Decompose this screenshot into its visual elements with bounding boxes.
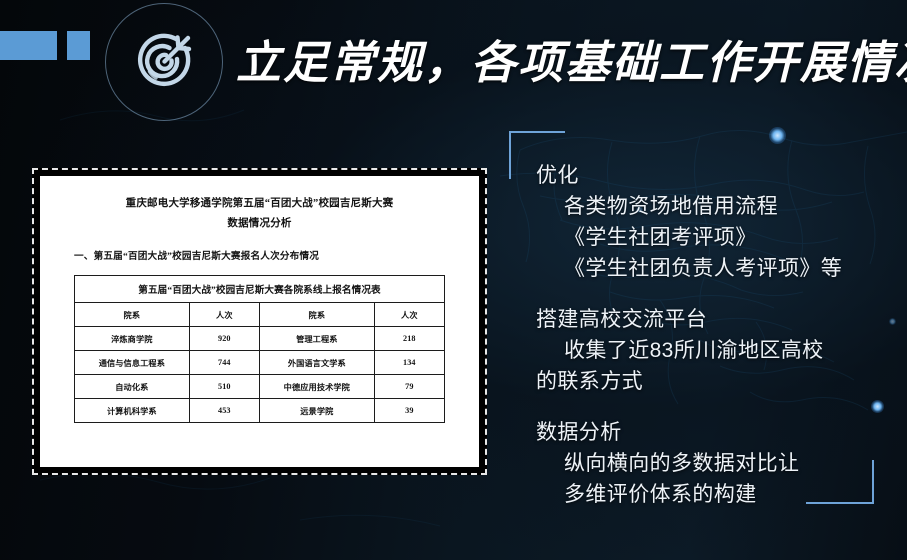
presentation-slide: 立足常规，各项基础工作开展情况 重庆邮电大学移通学院第五届“百团大战”校园吉尼斯… xyxy=(0,0,907,560)
table-cell: 淬炼商学院 xyxy=(75,327,190,351)
table-row: 通信与信息工程系 744 外国语言文学系 134 xyxy=(75,351,445,375)
document-image-frame: 重庆邮电大学移通学院第五届“百团大战”校园吉尼斯大赛 数据情况分析 一、第五届“… xyxy=(32,168,487,475)
table-cell: 453 xyxy=(189,399,259,423)
content-line: 纵向横向的多数据对比让 xyxy=(536,448,896,479)
table-row: 淬炼商学院 920 管理工程系 218 xyxy=(75,327,445,351)
content-line: 多维评价体系的构建 xyxy=(536,479,896,510)
document-title-line-2: 数据情况分析 xyxy=(74,214,445,234)
table-header-cell: 人次 xyxy=(374,303,444,327)
page-title: 立足常规，各项基础工作开展情况 xyxy=(236,26,896,91)
table-cell: 79 xyxy=(374,375,444,399)
table-cell: 920 xyxy=(189,327,259,351)
content-block: 优化 各类物资场地借用流程 《学生社团考评项》 《学生社团负责人考评项》等 xyxy=(536,160,896,284)
content-block: 搭建高校交流平台 收集了近83所川渝地区高校 的联系方式 xyxy=(536,304,896,397)
content-heading: 优化 xyxy=(536,160,896,191)
table-row: 计算机科学系 453 远景学院 39 xyxy=(75,399,445,423)
table-cell: 134 xyxy=(374,351,444,375)
content-heading: 搭建高校交流平台 xyxy=(536,304,896,335)
target-arrow-icon xyxy=(133,29,197,93)
table-row: 自动化系 510 中德应用技术学院 79 xyxy=(75,375,445,399)
table-cell: 计算机科学系 xyxy=(75,399,190,423)
content-line: 《学生社团负责人考评项》等 xyxy=(536,253,896,284)
table-cell: 39 xyxy=(374,399,444,423)
document-title-line-1: 重庆邮电大学移通学院第五届“百团大战”校园吉尼斯大赛 xyxy=(74,194,445,214)
table-cell: 510 xyxy=(189,375,259,399)
table-cell: 外国语言文学系 xyxy=(259,351,374,375)
table-cell: 744 xyxy=(189,351,259,375)
table-cell: 远景学院 xyxy=(259,399,374,423)
table-cell: 通信与信息工程系 xyxy=(75,351,190,375)
table-cell: 管理工程系 xyxy=(259,327,374,351)
registration-table: 第五届“百团大战”校园吉尼斯大赛各院系线上报名情况表 院系 人次 院系 人次 淬… xyxy=(74,275,445,423)
table-caption: 第五届“百团大战”校园吉尼斯大赛各院系线上报名情况表 xyxy=(75,276,445,303)
document-section-heading: 一、第五届“百团大战”校园吉尼斯大赛报名人次分布情况 xyxy=(74,248,445,262)
content-heading: 数据分析 xyxy=(536,417,896,448)
table-cell: 中德应用技术学院 xyxy=(259,375,374,399)
document-page: 重庆邮电大学移通学院第五届“百团大战”校园吉尼斯大赛 数据情况分析 一、第五届“… xyxy=(40,176,479,467)
table-cell: 自动化系 xyxy=(75,375,190,399)
table-caption-row: 第五届“百团大战”校园吉尼斯大赛各院系线上报名情况表 xyxy=(75,276,445,303)
content-text-block: 优化 各类物资场地借用流程 《学生社团考评项》 《学生社团负责人考评项》等 搭建… xyxy=(536,160,896,516)
glow-dot xyxy=(769,127,786,144)
content-line: 《学生社团考评项》 xyxy=(536,222,896,253)
decor-bar-large xyxy=(0,31,57,60)
table-header-cell: 院系 xyxy=(75,303,190,327)
content-block: 数据分析 纵向横向的多数据对比让 多维评价体系的构建 xyxy=(536,417,896,510)
table-header-cell: 人次 xyxy=(189,303,259,327)
table-header-cell: 院系 xyxy=(259,303,374,327)
content-line: 各类物资场地借用流程 xyxy=(536,191,896,222)
table-cell: 218 xyxy=(374,327,444,351)
table-header-row: 院系 人次 院系 人次 xyxy=(75,303,445,327)
content-line: 收集了近83所川渝地区高校 xyxy=(536,335,896,366)
decor-bar-small xyxy=(67,31,90,60)
content-line: 的联系方式 xyxy=(536,366,896,397)
